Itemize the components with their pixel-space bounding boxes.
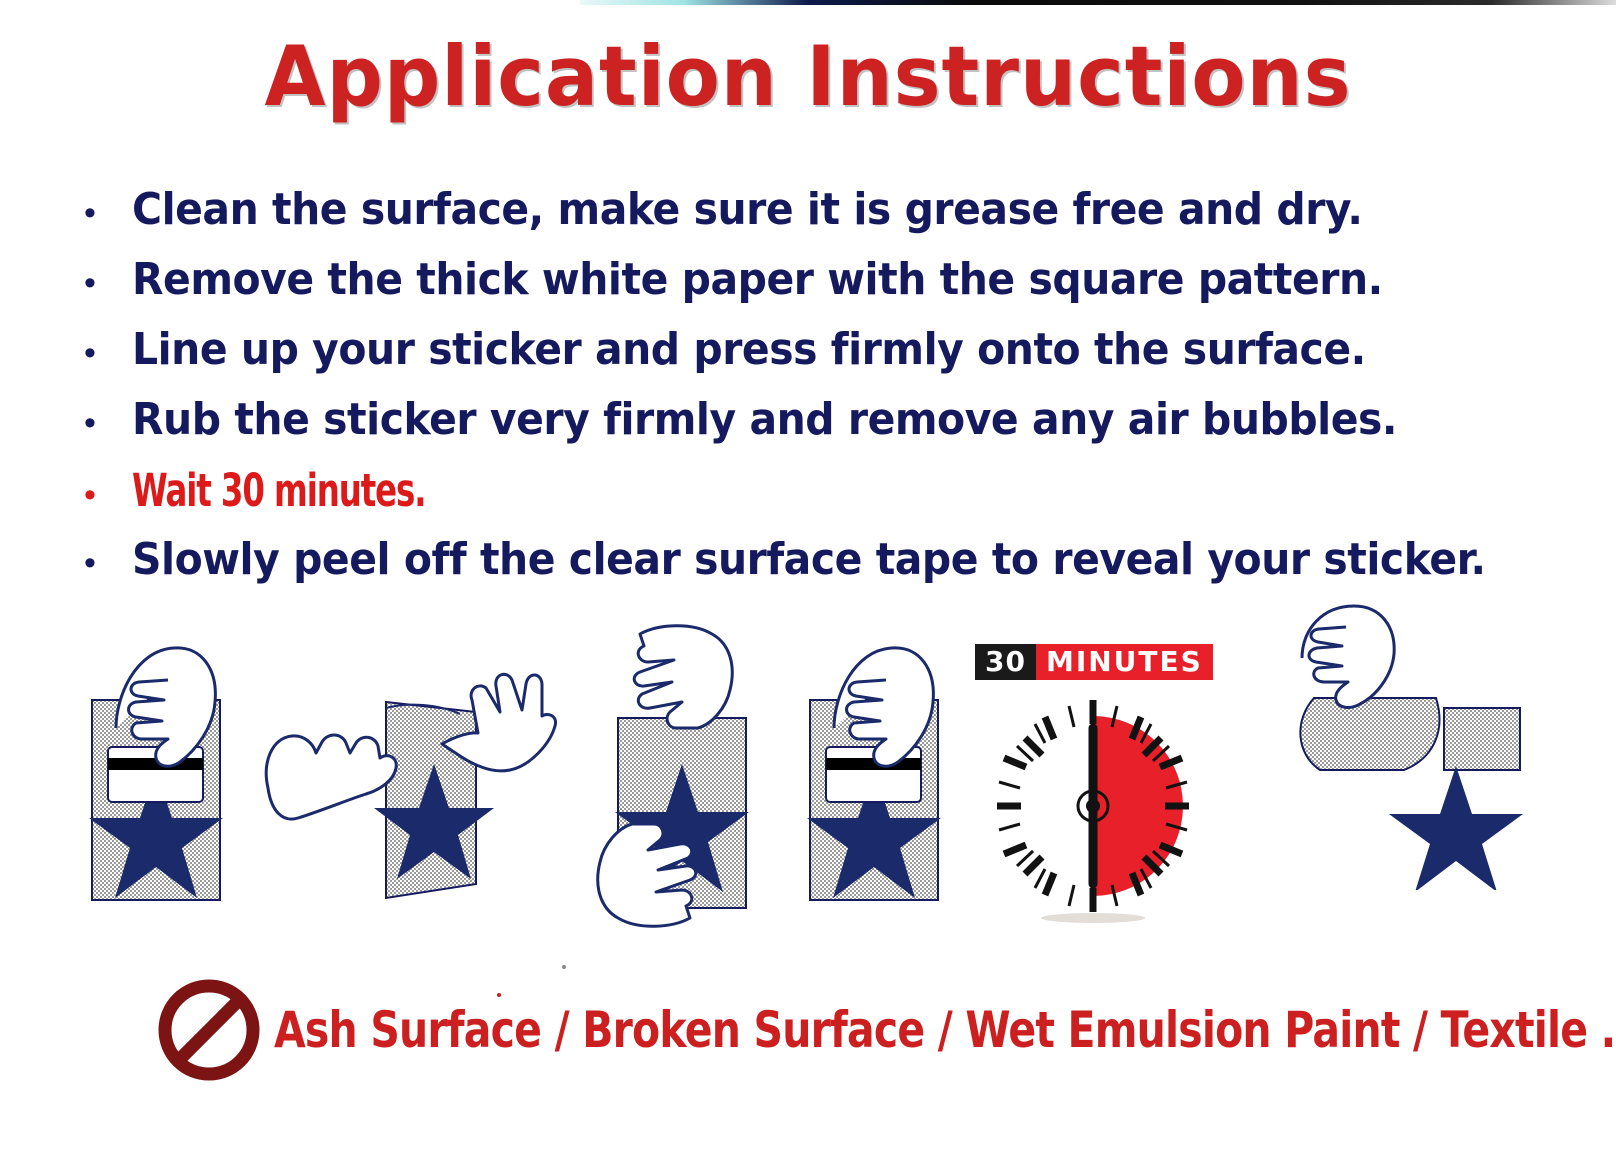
hand-shape-left [266,735,396,819]
bullet-marker: • [72,196,132,230]
list-item: • Line up your sticker and press firmly … [72,328,1572,398]
instruction-step-3: Line up your sticker and press firmly on… [132,328,1366,372]
bullet-marker: • [72,406,132,440]
warning-text: Ash Surface / Broken Surface / Wet Emuls… [274,1001,1615,1059]
timer-minutes-value: 30 [975,644,1036,680]
instruction-step-2: Remove the thick white paper with the sq… [132,258,1383,302]
warning-banner: Ash Surface / Broken Surface / Wet Emuls… [150,975,1550,1085]
instruction-step-4: Rub the sticker very firmly and remove a… [132,398,1397,442]
peeled-tape [1300,698,1439,770]
scan-speck [562,965,566,969]
star-shape [1389,766,1523,890]
bullet-marker: • [72,266,132,300]
illustration-peel-transfer-tape-step6 [1258,590,1588,895]
illustration-rub-with-squeegee-step4 [794,610,994,915]
timer-unit-label: MINUTES [1036,644,1213,680]
list-item: • Rub the sticker very firmly and remove… [72,398,1572,468]
illustration-peel-backing-paper-step2 [258,612,558,917]
bullet-marker: • [72,478,132,512]
instruction-step-6: Slowly peel off the clear surface tape t… [132,538,1486,582]
instruction-step-1: Clean the surface, make sure it is greas… [132,188,1362,232]
hand-shape-top [634,626,732,728]
prohibition-icon [150,975,268,1085]
instruction-step-5: Wait 30 minutes. [132,468,425,513]
timer-dial [975,686,1211,926]
illustration-strip: 30 MINUTES [0,596,1616,956]
hand-shape [1302,606,1394,707]
list-item: • Remove the thick white paper with the … [72,258,1572,328]
timer-hub [1086,799,1100,813]
instruction-list: • Clean the surface, make sure it is gre… [72,188,1572,608]
list-item: • Clean the surface, make sure it is gre… [72,188,1572,258]
illustration-wait-timer-step5: 30 MINUTES [975,644,1211,926]
page-title: Application Instructions [40,28,1575,125]
illustration-press-sticker-step3 [584,604,794,959]
timer-banner: 30 MINUTES [975,644,1211,680]
bullet-marker: • [72,546,132,580]
list-item: • Wait 30 minutes. [72,468,1572,538]
scan-edge-artifact [580,0,1616,5]
bullet-marker: • [72,336,132,370]
